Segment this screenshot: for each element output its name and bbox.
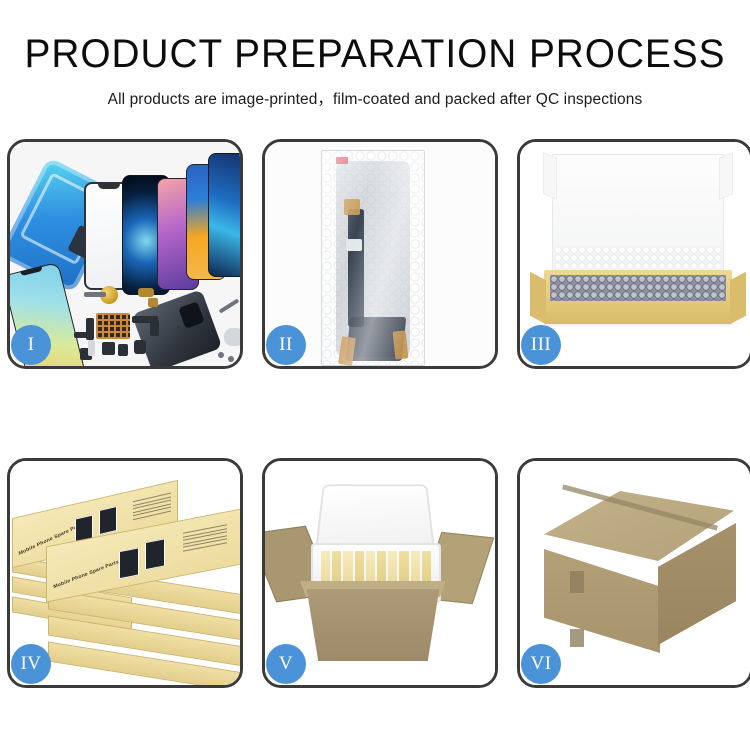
chip-grid-component — [96, 313, 130, 339]
small-part — [138, 288, 154, 297]
step-panel-3[interactable]: III — [517, 139, 750, 369]
step-badge-2: II — [266, 325, 306, 365]
steps-grid: I II — [7, 139, 743, 688]
step-badge-1: I — [11, 325, 51, 365]
screw-part — [228, 356, 234, 362]
small-part — [134, 340, 146, 354]
small-part — [118, 344, 128, 356]
bag-sheen — [322, 151, 424, 365]
phone-display-navy — [208, 153, 240, 277]
small-part — [84, 292, 106, 297]
screw-part — [218, 352, 224, 358]
step-badge-4: IV — [11, 644, 51, 684]
small-part — [102, 342, 115, 355]
step-badge-6: VI — [521, 644, 561, 684]
step-badge-3: III — [521, 325, 561, 365]
carton-tape-strip — [570, 629, 584, 647]
page-title: PRODUCT PREPARATION PROCESS — [11, 34, 739, 74]
step-panel-2[interactable]: II — [262, 139, 498, 369]
box-artwork-phone — [99, 506, 117, 535]
step-badge-5: V — [266, 644, 306, 684]
small-part — [150, 320, 159, 336]
step-panel-4[interactable]: Mobile Phone Spare Parts Mobile Phone Sp… — [7, 458, 243, 688]
header: PRODUCT PREPARATION PROCESS All products… — [0, 0, 750, 109]
bubble-wrap-bag — [321, 150, 425, 366]
carton-tape-strip — [570, 571, 584, 593]
step-panel-5[interactable]: V — [262, 458, 498, 688]
bubble-wrap-contents — [550, 275, 726, 301]
box-artwork-phone — [145, 538, 165, 570]
page-subtitle: All products are image-printed，film-coat… — [0, 87, 750, 109]
small-part — [88, 340, 95, 356]
box-artwork-phone — [119, 547, 139, 579]
step-panel-6[interactable]: VI — [517, 458, 750, 688]
small-part — [74, 332, 90, 338]
step-panel-1[interactable]: I — [7, 139, 243, 369]
carton-body — [301, 589, 445, 661]
small-part — [148, 298, 158, 307]
product-preparation-infographic: PRODUCT PREPARATION PROCESS All products… — [0, 0, 750, 750]
small-part — [224, 328, 240, 346]
